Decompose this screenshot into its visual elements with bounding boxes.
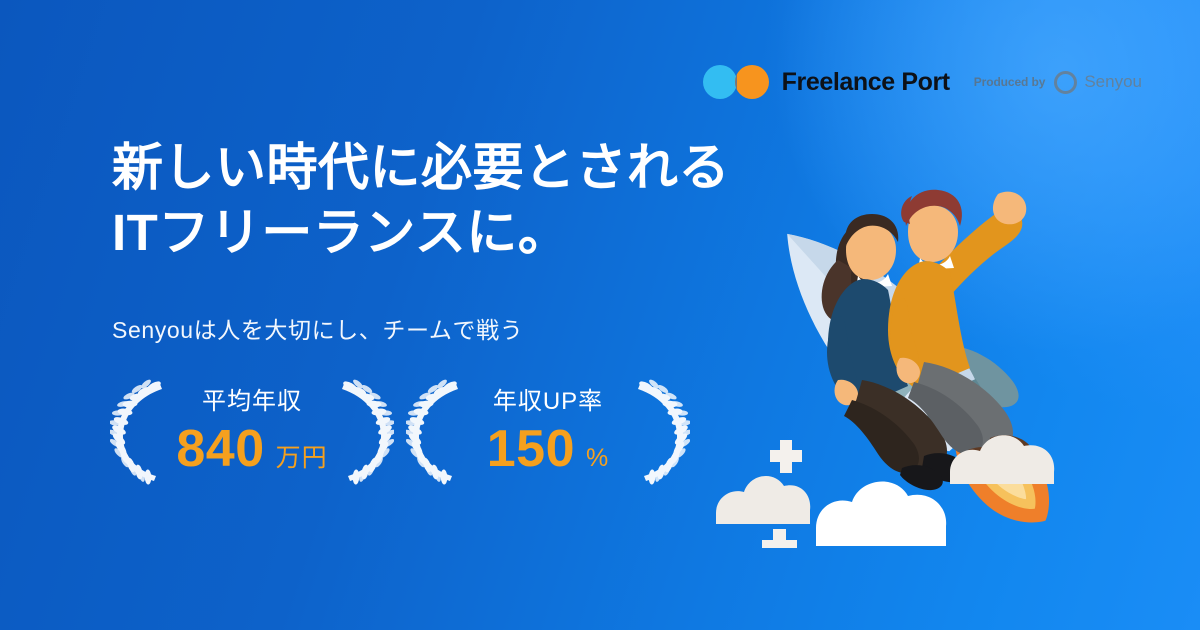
brand-logo-bar[interactable]: Freelance Port Produced by Senyou [703,62,1142,102]
stat-value: 150 [487,423,575,475]
logo-circle-overlap [735,65,737,99]
stat-value-row: 150 % [487,423,610,475]
stat-value: 840 [176,423,264,475]
stat-label: 年収UP率 [493,390,603,414]
stat-label: 平均年収 [202,390,302,414]
headline-line-1: 新しい時代に必要とされる [112,136,730,201]
stats-row: 平均年収 840 万円 [104,378,696,486]
stat-unit: 万円 [276,438,328,474]
brand-wordmark: Freelance Port [782,68,950,97]
laurel-wreath-left-icon [406,378,462,486]
produced-by-label: Produced by [974,75,1046,89]
stat-unit: % [586,444,609,473]
senyou-ring-icon [1054,71,1077,94]
headline-line-2: ITフリーランスに。 [112,201,730,266]
producer-name: Senyou [1084,72,1142,92]
logo-circle-right [735,65,769,99]
subheadline: Senyouは人を大切にし、チームで戦う [112,266,730,345]
laurel-wreath-right-icon [634,378,690,486]
hero-banner: Freelance Port Produced by Senyou 新しい時代に… [0,0,1200,630]
rocket-illustration [712,168,1132,548]
laurel-wreath-left-icon [110,378,166,486]
laurel-wreath-right-icon [338,378,394,486]
freelance-port-logo-icon [703,65,769,99]
stat-badge-average-salary: 平均年収 840 万円 [104,378,400,486]
hero-copy: 新しい時代に必要とされる ITフリーランスに。 Senyouは人を大切にし、チー… [112,136,730,345]
produced-by-credit[interactable]: Produced by Senyou [974,71,1142,94]
stat-value-row: 840 万円 [176,423,327,475]
stat-badge-salary-increase-rate: 年収UP率 150 % [400,378,696,486]
logo-circle-left [703,65,737,99]
